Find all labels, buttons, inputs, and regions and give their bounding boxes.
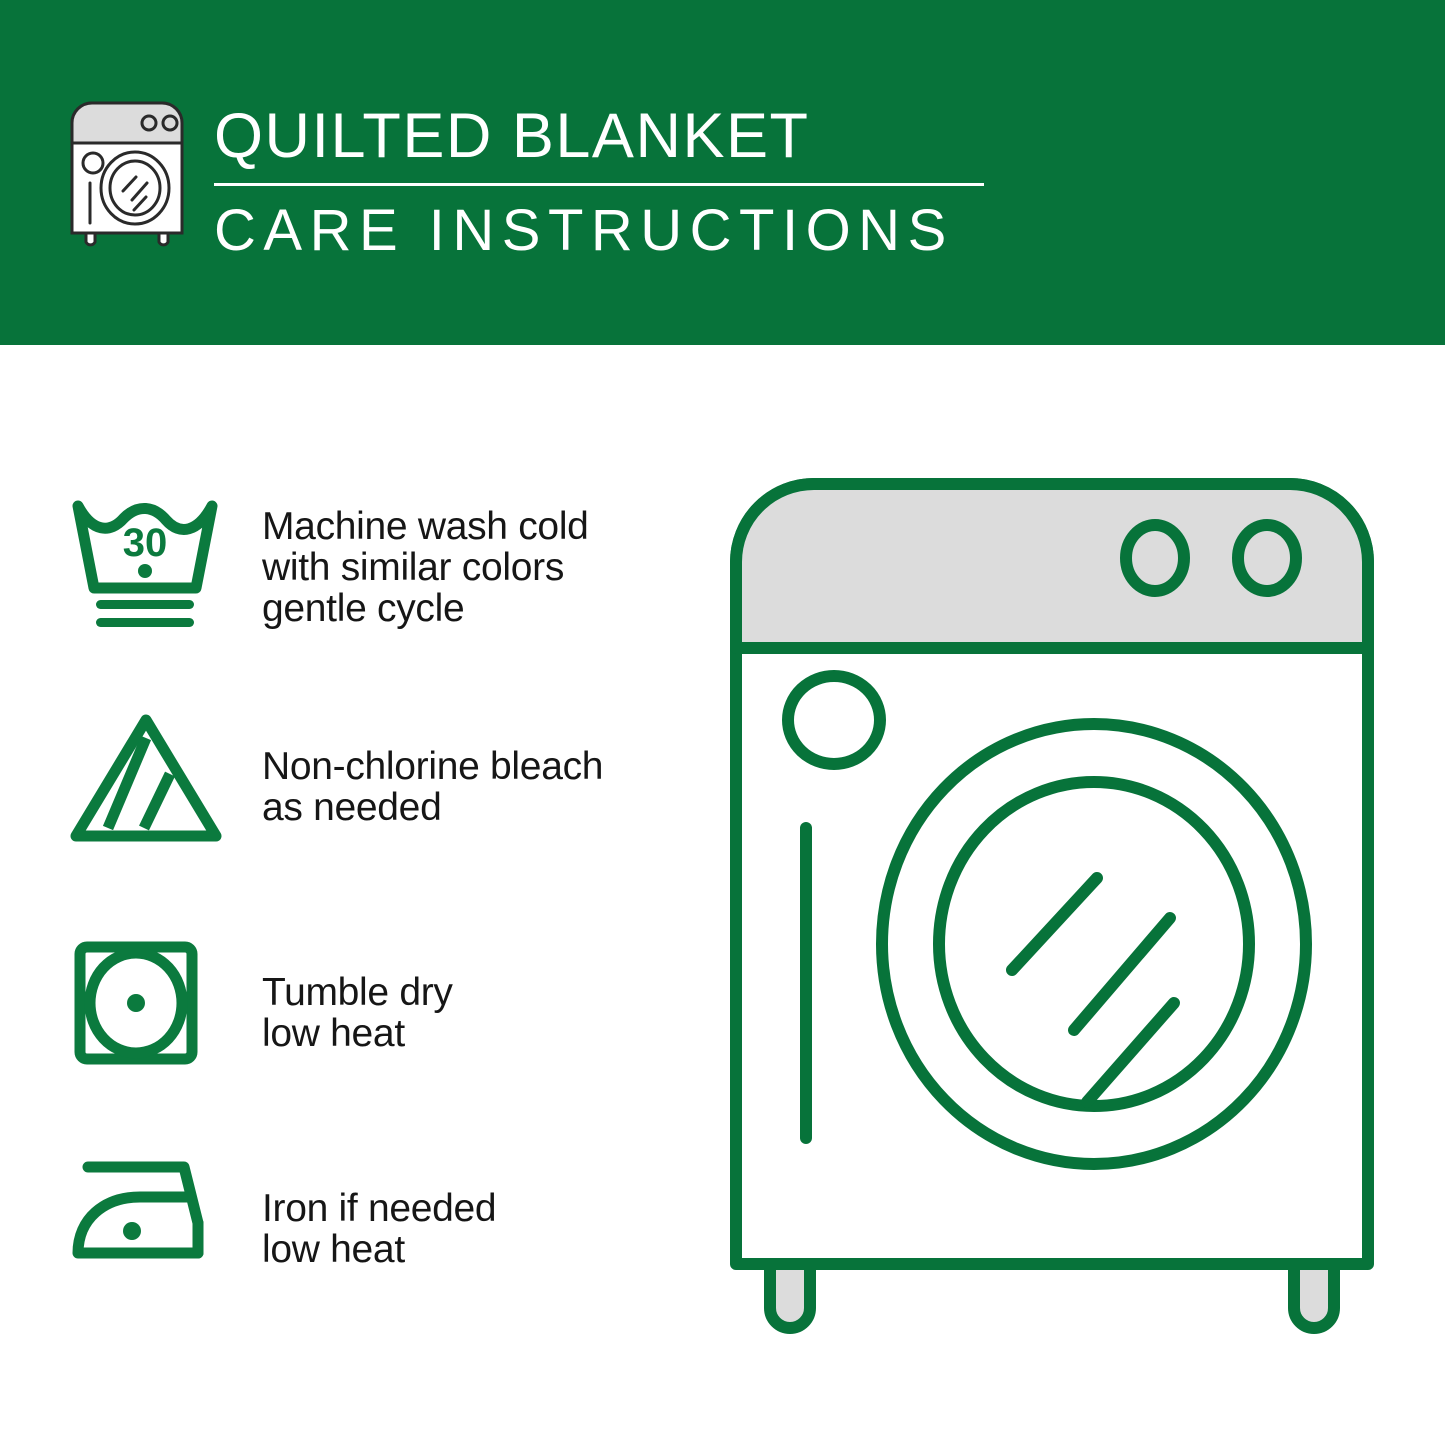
care-row-tumble-dry: Tumble dry low heat	[66, 928, 686, 1078]
care-row-machine-wash: 30 Machine wash cold with similar colors…	[66, 480, 686, 645]
title-divider	[214, 183, 984, 186]
care-row-iron: Iron if needed low heat	[66, 1140, 686, 1280]
iron-low-heat-icon	[66, 1145, 236, 1275]
header-title-block: QUILTED BLANKET CARE INSTRUCTIONS	[214, 95, 984, 263]
tumble-dry-low-heat-icon-wrap	[66, 928, 236, 1078]
page-title: QUILTED BLANKET	[214, 101, 984, 171]
wash-temperature-label: 30	[123, 521, 168, 565]
wash-tub-30-gentle-icon: 30	[66, 488, 236, 638]
care-line: gentle cycle	[262, 588, 686, 629]
care-line: low heat	[262, 1013, 686, 1054]
leg-right	[1294, 1260, 1334, 1328]
top-control-panel	[736, 484, 1368, 648]
non-chlorine-bleach-triangle-icon	[66, 708, 236, 853]
care-line: low heat	[262, 1229, 686, 1270]
leg-left	[770, 1260, 810, 1328]
care-text-tumble-dry: Tumble dry low heat	[236, 928, 686, 1054]
care-line: Tumble dry	[262, 972, 686, 1013]
care-row-bleach: Non-chlorine bleach as needed	[66, 700, 686, 860]
care-text-iron: Iron if needed low heat	[236, 1140, 686, 1270]
header-content: QUILTED BLANKET CARE INSTRUCTIONS	[66, 95, 984, 263]
care-text-machine-wash: Machine wash cold with similar colors ge…	[236, 480, 686, 629]
page-subtitle: CARE INSTRUCTIONS	[214, 199, 984, 263]
header-banner: QUILTED BLANKET CARE INSTRUCTIONS	[0, 0, 1445, 345]
iron-low-heat-icon-wrap	[66, 1140, 236, 1280]
care-instructions-page: QUILTED BLANKET CARE INSTRUCTIONS 30	[0, 0, 1445, 1445]
care-line: as needed	[262, 787, 686, 828]
care-line: with similar colors	[262, 547, 686, 588]
care-text-bleach: Non-chlorine bleach as needed	[236, 700, 686, 828]
care-line: Non-chlorine bleach	[262, 746, 686, 787]
washing-machine-illustration	[722, 470, 1382, 1350]
non-chlorine-bleach-triangle-icon-wrap	[66, 700, 236, 860]
care-line: Iron if needed	[262, 1188, 686, 1229]
tumble-dry-low-heat-icon	[66, 933, 236, 1073]
washing-machine-icon	[66, 95, 188, 247]
care-line: Machine wash cold	[262, 506, 686, 547]
wash-tub-30-gentle-icon-wrap: 30	[66, 480, 236, 645]
